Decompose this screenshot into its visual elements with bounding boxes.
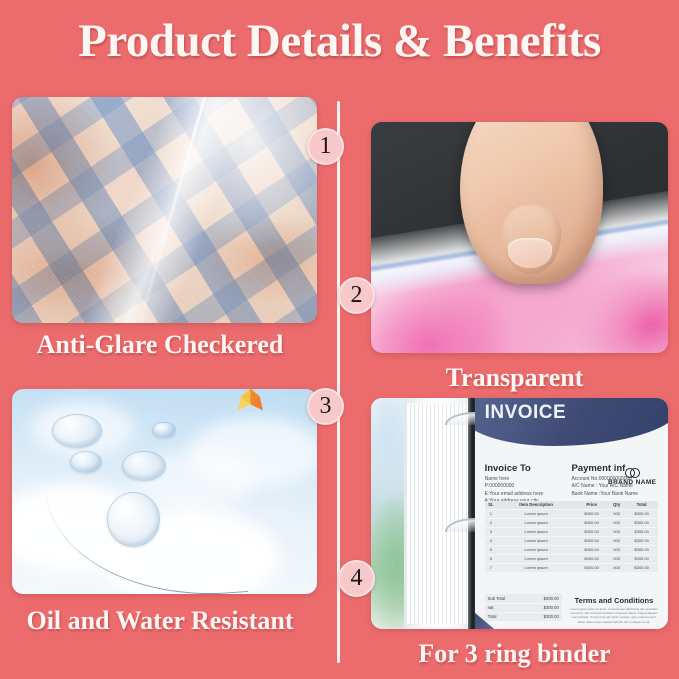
table-cell: $300.00 [625, 563, 658, 572]
table-cell: Lorem ipsum [497, 536, 575, 545]
table-row: 4Lorem ipsum$300.00000$300.00 [485, 536, 659, 545]
step-badge-3: 3 [307, 388, 344, 425]
invoice-header: INVOICE [475, 398, 668, 463]
water-droplet-large [107, 492, 161, 547]
table-cell: $300.00 [575, 554, 608, 563]
step-badge-2: 2 [338, 277, 375, 314]
table-cell: $300.00 [575, 545, 608, 554]
table-cell: $300.00 [575, 509, 608, 518]
table-cell: $300.00 [575, 527, 608, 536]
invoice-to-block: Invoice To Name here P:000000000 E:Your … [485, 463, 572, 506]
table-cell: $300.00 [625, 545, 658, 554]
table-cell: $300.00 [625, 509, 658, 518]
table-cell: 000 [608, 536, 625, 545]
invoice-to-title: Invoice To [485, 463, 572, 474]
table-cell: $300.00 [625, 518, 658, 527]
invoice-to-line: Name here [485, 476, 572, 484]
table-row: 5Lorem ipsum$300.00000$300.00 [485, 545, 659, 554]
fingernail-shape [508, 238, 553, 268]
table-cell: $300.00 [575, 536, 608, 545]
page-title: Product Details & Benefits [0, 14, 679, 68]
product-infographic: Product Details & Benefits [0, 0, 679, 679]
table-cell: 000 [608, 563, 625, 572]
invoice-total-row: Sub Total$300.00 [485, 594, 562, 603]
step-badge-4: 4 [338, 560, 375, 597]
table-cell: $300.00 [575, 563, 608, 572]
terms-title: Terms and Conditions [568, 596, 661, 605]
table-cell: Lorem ipsum [497, 527, 575, 536]
table-cell: 4 [485, 536, 498, 545]
feature-caption-1: Anti-Glare Checkered [0, 330, 320, 360]
table-cell: 000 [608, 545, 625, 554]
binder-pages [407, 403, 469, 625]
water-droplet [152, 422, 175, 438]
invoice-totals: Sub Total$300.00Vat$300.00Total$300.00 [485, 594, 562, 622]
total-label: Total [488, 614, 497, 619]
total-label: Sub Total [488, 596, 505, 601]
table-row: 2Lorem ipsum$300.00000$300.00 [485, 518, 659, 527]
table-cell: 5 [485, 545, 498, 554]
table-cell: $300.00 [575, 518, 608, 527]
feature-caption-4: For 3 ring binder [350, 639, 679, 669]
table-row: 6Lorem ipsum$300.00000$300.00 [485, 554, 659, 563]
table-row: 7Lorem ipsum$300.00000$300.00 [485, 563, 659, 572]
table-column-header: Total [625, 501, 658, 510]
table-cell: 3 [485, 527, 498, 536]
payment-info-block: Payment inf Account No:000000000000 A/C … [571, 463, 658, 506]
feature-caption-2: Transparent [350, 363, 679, 393]
table-column-header: Price [575, 501, 608, 510]
total-label: Vat [488, 605, 494, 610]
invoice-document: INVOICE BRAND NAME Invoice To Name here … [475, 398, 668, 629]
table-cell: Lorem ipsum [497, 545, 575, 554]
table-row: 1Lorem ipsum$300.00000$300.00 [485, 509, 659, 518]
table-cell: Lorem ipsum [497, 554, 575, 563]
table-cell: 6 [485, 554, 498, 563]
table-column-header: SL [485, 501, 498, 510]
payment-info-line: Account No:000000000000 [571, 476, 658, 484]
feature-image-3 [12, 389, 317, 594]
table-cell: 000 [608, 518, 625, 527]
table-column-header: Qty [608, 501, 625, 510]
feature-image-4: INVOICE BRAND NAME Invoice To Name here … [371, 398, 668, 629]
payment-info-title: Payment inf [571, 463, 658, 474]
table-row: 3Lorem ipsum$300.00000$300.00 [485, 527, 659, 536]
payment-info-line: A/C Name : Your A/C Name [571, 483, 658, 491]
table-cell: 000 [608, 554, 625, 563]
invoice-total-row: Total$300.00 [485, 613, 562, 622]
invoice-to-line: P:000000000 [485, 483, 572, 491]
kite-icon [226, 389, 275, 414]
table-header-row: SLItem DescriptionPriceQtyTotal [485, 501, 659, 510]
table-cell: 7 [485, 563, 498, 572]
terms-body: Lorem ipsum dolor sit amet, consectetuer… [568, 607, 661, 624]
table-cell: 1 [485, 509, 498, 518]
feature-image-1 [12, 97, 317, 323]
sheen-highlight [12, 97, 317, 323]
payment-info-line: Bank Name :Your Bank Name [571, 491, 658, 499]
total-value: $300.00 [544, 605, 559, 610]
invoice-total-row: Vat$300.00 [485, 604, 562, 613]
table-cell: 000 [608, 509, 625, 518]
table-cell: Lorem ipsum [497, 509, 575, 518]
table-cell: Lorem ipsum [497, 518, 575, 527]
invoice-line-items-table: SLItem DescriptionPriceQtyTotal 1Lorem i… [485, 501, 659, 573]
table-column-header: Item Description [497, 501, 575, 510]
total-value: $300.00 [544, 596, 559, 601]
table-cell: $300.00 [625, 527, 658, 536]
invoice-to-line: E:Your email address here [485, 491, 572, 499]
table-cell: Lorem ipsum [497, 563, 575, 572]
invoice-terms: Terms and Conditions Lorem ipsum dolor s… [568, 596, 661, 624]
invoice-parties: Invoice To Name here P:000000000 E:Your … [475, 463, 668, 506]
table-cell: $300.00 [625, 536, 658, 545]
table-cell: $300.00 [625, 554, 658, 563]
total-value: $300.00 [544, 614, 559, 619]
step-badge-1: 1 [307, 128, 344, 165]
feature-caption-3: Oil and Water Resistant [0, 606, 320, 636]
table-cell: 2 [485, 518, 498, 527]
water-droplet [70, 451, 103, 474]
table-cell: 000 [608, 527, 625, 536]
feature-image-2 [371, 122, 668, 353]
invoice-heading: INVOICE [485, 402, 567, 424]
